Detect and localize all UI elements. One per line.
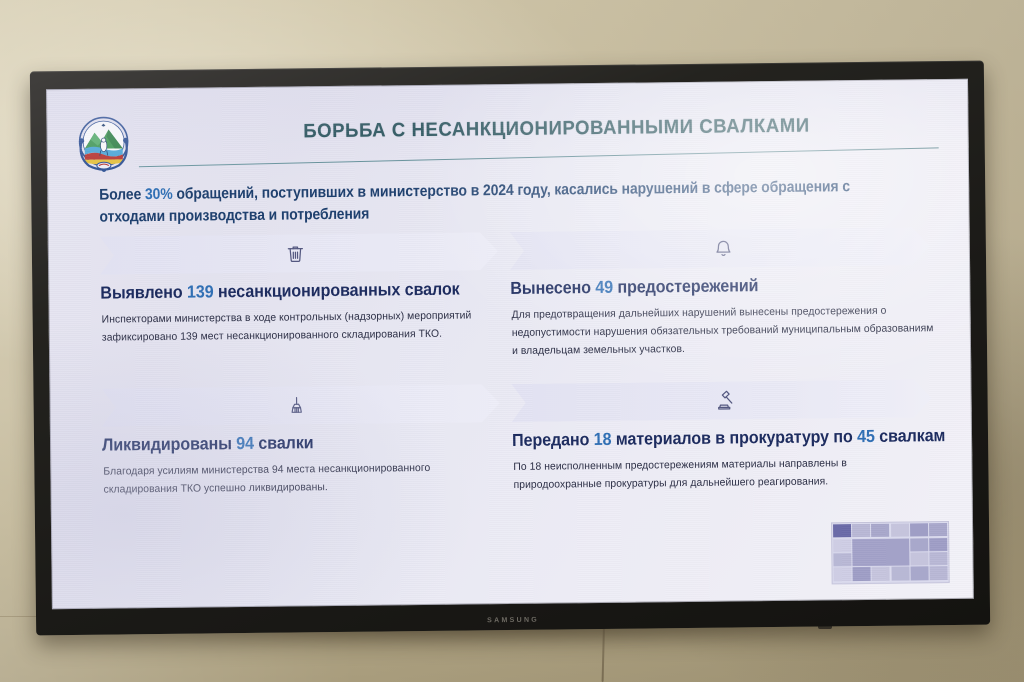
gavel-icon: [707, 383, 741, 417]
bell-icon: [706, 231, 740, 265]
tv-screen: БОРЬБА С НЕСАНКЦИОНИРОВАННЫМИ СВАЛКАМИ Б…: [46, 79, 974, 609]
heading-prefix: Ликвидированы: [102, 433, 236, 455]
metric-description: По 18 неисполненным предостережениям мат…: [513, 453, 937, 494]
heading-suffix: несанкционированных свалок: [213, 279, 459, 302]
collage-tile: [891, 567, 909, 580]
collage-tile: [852, 524, 870, 537]
broom-icon: [279, 388, 313, 422]
collage-tile: [891, 524, 909, 537]
collage-tile: [929, 566, 947, 579]
collage-tile: [910, 567, 928, 580]
metric-description: Инспекторами министерства в ходе контрол…: [102, 306, 494, 347]
collage-tile: [834, 568, 852, 581]
collage-tile: [834, 553, 852, 566]
collage-tile: [852, 538, 909, 566]
heading-number: 49: [595, 277, 613, 297]
collage-tile: [929, 538, 947, 551]
metric-heading: Выявлено 139 несанкционированных свалок: [100, 278, 468, 303]
trash-bin-icon: [278, 236, 312, 270]
power-cable: [602, 624, 605, 682]
heading-number: 139: [187, 281, 214, 301]
metrics-row-1: Выявлено 139 несанкционированных свалок …: [48, 227, 972, 385]
slide-header: БОРЬБА С НЕСАНКЦИОНИРОВАННЫМИ СВАЛКАМИ: [46, 95, 969, 175]
heading-number: 94: [236, 433, 254, 453]
collage-tile: [910, 552, 928, 565]
lead-highlight: 30%: [145, 186, 173, 203]
lead-paragraph: Более 30% обращений, поступивших в минис…: [99, 176, 855, 229]
heading-suffix: свалки: [254, 432, 314, 453]
collage-tile: [929, 552, 947, 565]
room-scene: SAMSUNG: [0, 0, 1024, 682]
metric-heading: Ликвидированы 94 свалки: [102, 430, 470, 455]
collage-tile: [910, 523, 928, 536]
heading-prefix: Выявлено: [100, 282, 187, 303]
north-ossetia-alania-coat-of-arms-icon: [72, 112, 135, 175]
heading-prefix: Передано: [512, 429, 594, 450]
presentation-slide: БОРЬБА С НЕСАНКЦИОНИРОВАННЫМИ СВАЛКАМИ Б…: [46, 79, 974, 609]
heading-suffix-2: свалкам: [875, 425, 946, 446]
metric-description: Для предотвращения дальнейших нарушений …: [512, 301, 936, 360]
heading-suffix: материалов в прокуратуру по: [611, 426, 857, 449]
television: SAMSUNG: [30, 61, 990, 636]
metrics-row-2: Ликвидированы 94 свалки Благодаря усилия…: [49, 379, 973, 537]
metric-heading: Вынесено 49 предостережений: [510, 274, 897, 299]
collage-tile: [871, 524, 889, 537]
metric-heading: Передано 18 материалов в прокуратуру по …: [512, 426, 899, 451]
slide-title: БОРЬБА С НЕСАНКЦИОНИРОВАННЫМИ СВАЛКАМИ: [205, 113, 908, 144]
heading-prefix: Вынесено: [510, 277, 595, 298]
title-divider: [139, 147, 939, 167]
heading-number-2: 45: [857, 426, 875, 446]
heading-number: 18: [594, 429, 612, 449]
lead-rest: обращений, поступивших в министерство в …: [99, 178, 850, 226]
photo-collage-thumbnail: [831, 521, 950, 584]
metric-description: Благодаря усилиям министерства 94 места …: [103, 458, 495, 499]
collage-tile: [833, 539, 851, 552]
collage-tile: [853, 567, 871, 580]
collage-tile: [929, 523, 947, 536]
heading-suffix: предостережений: [613, 275, 759, 297]
collage-tile: [872, 567, 890, 580]
collage-tile: [910, 538, 928, 551]
collage-tile: [833, 524, 851, 537]
tv-brand-label: SAMSUNG: [487, 617, 539, 625]
lead-prefix: Более: [99, 186, 145, 204]
